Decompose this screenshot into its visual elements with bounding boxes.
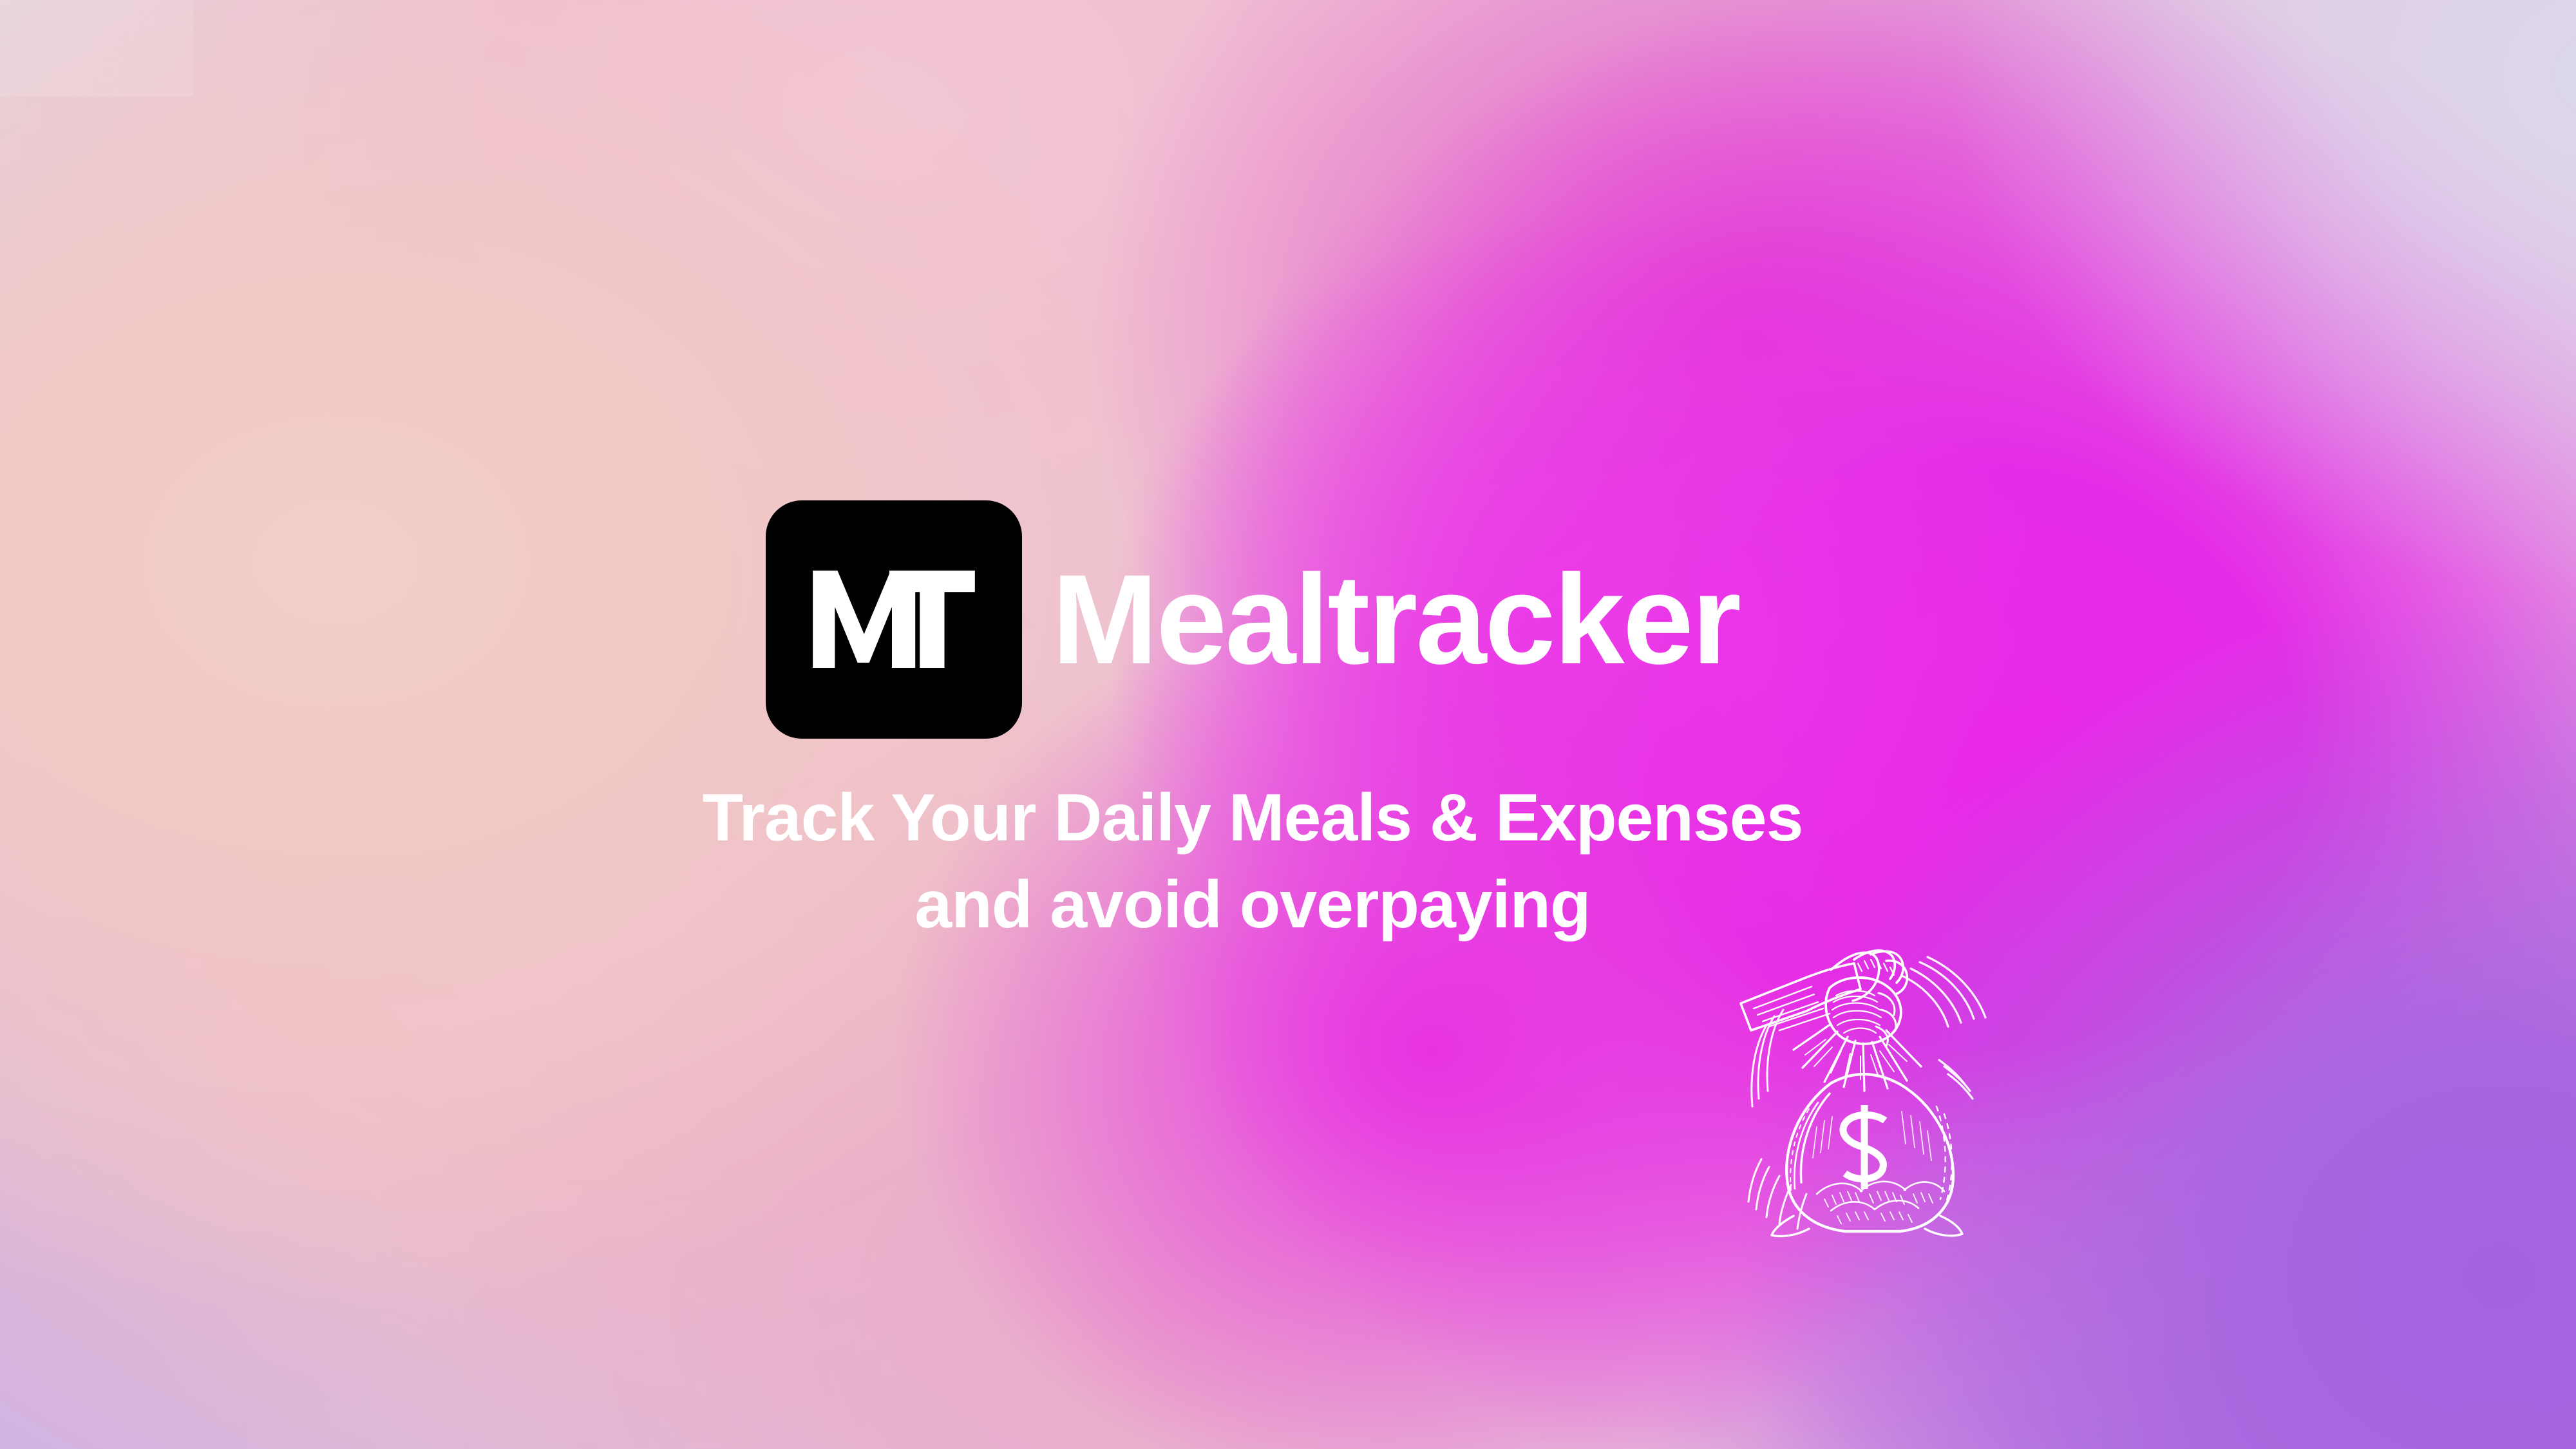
tagline: Track Your Daily Meals & Expenses and av… bbox=[703, 775, 1803, 949]
brand-lockup: Mealtracker bbox=[766, 500, 1739, 739]
app-logo bbox=[766, 500, 1022, 739]
tagline-line-2: and avoid overpaying bbox=[703, 862, 1803, 949]
tagline-line-1: Track Your Daily Meals & Expenses bbox=[703, 775, 1803, 862]
mt-monogram-icon bbox=[813, 571, 975, 668]
app-name: Mealtracker bbox=[1052, 556, 1739, 683]
banner-content: Mealtracker Track Your Daily Meals & Exp… bbox=[0, 0, 2576, 1449]
promo-banner: Mealtracker Track Your Daily Meals & Exp… bbox=[0, 0, 2576, 1449]
